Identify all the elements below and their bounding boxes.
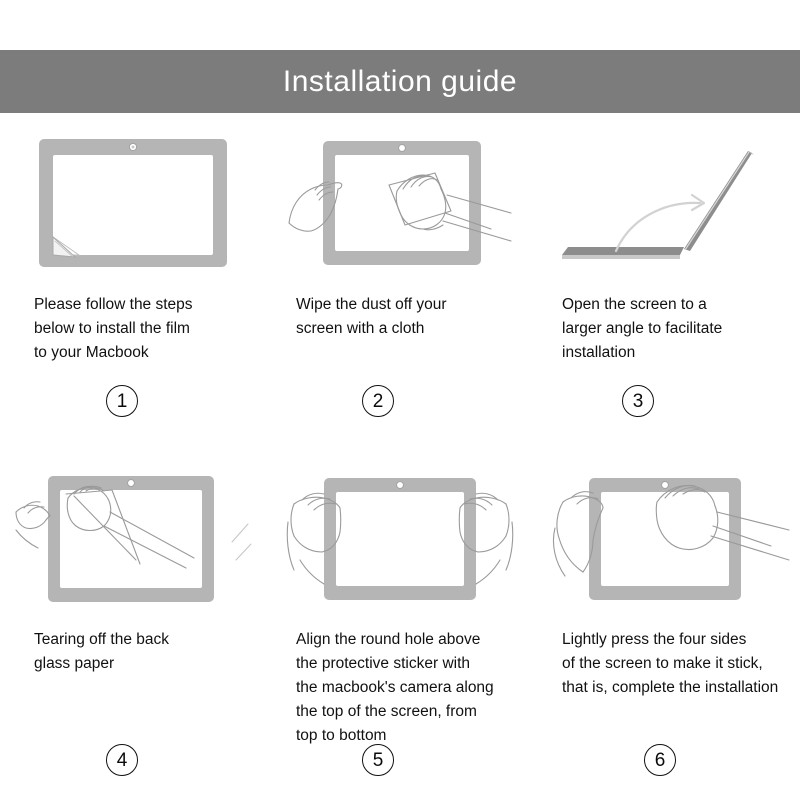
step-card-2: Wipe the dust off your screen with a clo… (266, 113, 534, 448)
step-caption-1: Please follow the steps below to install… (0, 293, 266, 365)
page-title: Installation guide (283, 67, 517, 97)
step-caption-2: Wipe the dust off your screen with a clo… (266, 293, 534, 341)
illustration-hands-tearing-back-glass-paper (0, 448, 266, 628)
illustration-laptop-side-view-opening-angle-arrow (534, 113, 800, 293)
step-number-badge-6: 6 (644, 744, 676, 776)
illustration-hand-pressing-screen-edges (534, 448, 800, 628)
step-caption-6: Lightly press the four sides of the scre… (534, 628, 800, 700)
wipe-screen-svg (285, 133, 515, 273)
step-number-badge-3: 3 (622, 385, 654, 417)
step-card-1: Please follow the steps below to install… (0, 113, 266, 448)
illustration-hands-wiping-screen-with-cloth (266, 113, 534, 293)
press-screen-svg (545, 468, 790, 608)
screen-peeling-film-svg (33, 133, 233, 273)
steps-grid: Please follow the steps below to install… (0, 113, 800, 800)
step-number-badge-4: 4 (106, 744, 138, 776)
step-number-badge-2: 2 (362, 385, 394, 417)
step-caption-4: Tearing off the back glass paper (0, 628, 266, 676)
step-number-badge-1: 1 (106, 385, 138, 417)
laptop-open-angle-svg (552, 133, 782, 273)
illustration-screen-with-peeling-film-corner (0, 113, 266, 293)
step-card-6: Lightly press the four sides of the scre… (534, 448, 800, 800)
step-badge-row-6: 6 (534, 744, 800, 776)
step-card-5: Align the round hole above the protectiv… (266, 448, 534, 800)
step-caption-3: Open the screen to a larger angle to fac… (534, 293, 800, 365)
illustration-two-hands-aligning-film-on-screen (266, 448, 534, 628)
tear-back-paper-svg (16, 468, 251, 608)
step-card-4: Tearing off the back glass paper 4 (0, 448, 266, 800)
step-card-3: Open the screen to a larger angle to fac… (534, 113, 800, 448)
step-caption-5: Align the round hole above the protectiv… (266, 628, 534, 748)
step-number-badge-5: 5 (362, 744, 394, 776)
step-badge-row-3: 3 (534, 385, 800, 417)
page-header-banner: Installation guide (0, 50, 800, 113)
align-film-svg (280, 468, 520, 608)
